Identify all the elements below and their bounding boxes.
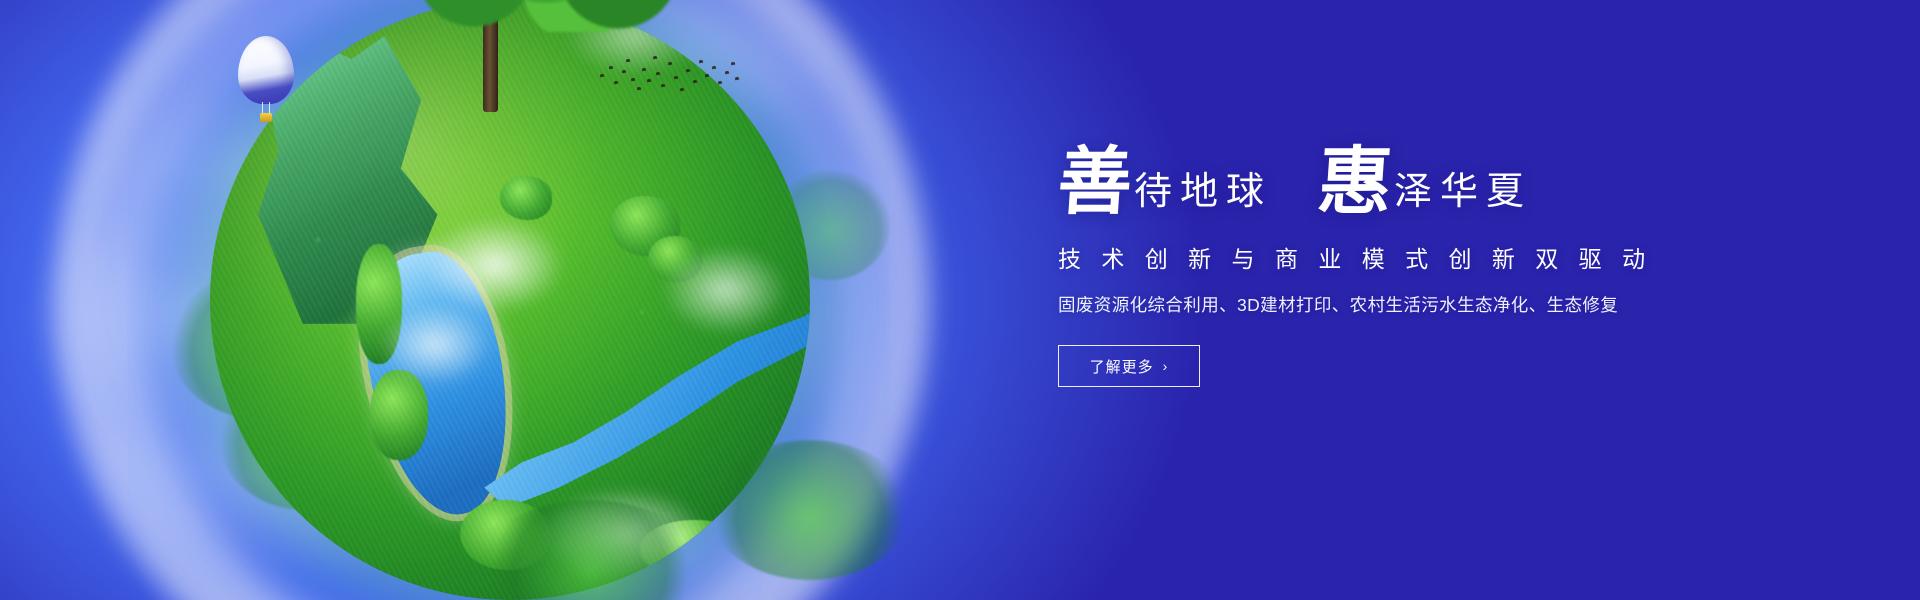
headline-part-1: 待地球 xyxy=(1134,173,1272,218)
tree-icon xyxy=(710,440,910,580)
page-title: 善 待地球 惠 泽华夏 xyxy=(1058,132,1758,218)
headline-char-2: 惠 xyxy=(1316,147,1395,218)
hero-description: 固废资源化综合利用、3D建材打印、农村生活污水生态净化、生态修复 xyxy=(1058,292,1758,317)
cloud-shape xyxy=(400,200,590,330)
lake-shape xyxy=(352,243,524,524)
hero-banner: 善 待地球 惠 泽华夏 技 术 创 新 与 商 业 模 式 创 新 双 驱 动 … xyxy=(0,0,1920,600)
bush-icon xyxy=(610,196,680,256)
bush-icon xyxy=(500,176,552,220)
headline-char-1: 善 xyxy=(1056,147,1135,218)
bush-icon xyxy=(370,370,428,460)
learn-more-button[interactable]: 了解更多 › xyxy=(1058,345,1200,387)
balloon-basket xyxy=(260,113,272,122)
tree-icon xyxy=(390,0,690,32)
balloon-envelope xyxy=(238,36,294,104)
cloud-shape xyxy=(640,230,810,350)
hero-subtitle: 技 术 创 新 与 商 业 模 式 创 新 双 驱 动 xyxy=(1058,240,1758,274)
learn-more-label: 了解更多 xyxy=(1090,356,1154,377)
hero-copy: 善 待地球 惠 泽华夏 技 术 创 新 与 商 业 模 式 创 新 双 驱 动 … xyxy=(1058,132,1758,387)
bush-icon xyxy=(356,244,402,364)
headline-part-2: 泽华夏 xyxy=(1394,173,1532,218)
chevron-right-icon: › xyxy=(1163,359,1169,373)
bird-flock-icon xyxy=(598,48,738,96)
hot-air-balloon-icon xyxy=(238,36,294,124)
bush-icon xyxy=(648,236,702,282)
cloud-shape xyxy=(360,290,510,400)
